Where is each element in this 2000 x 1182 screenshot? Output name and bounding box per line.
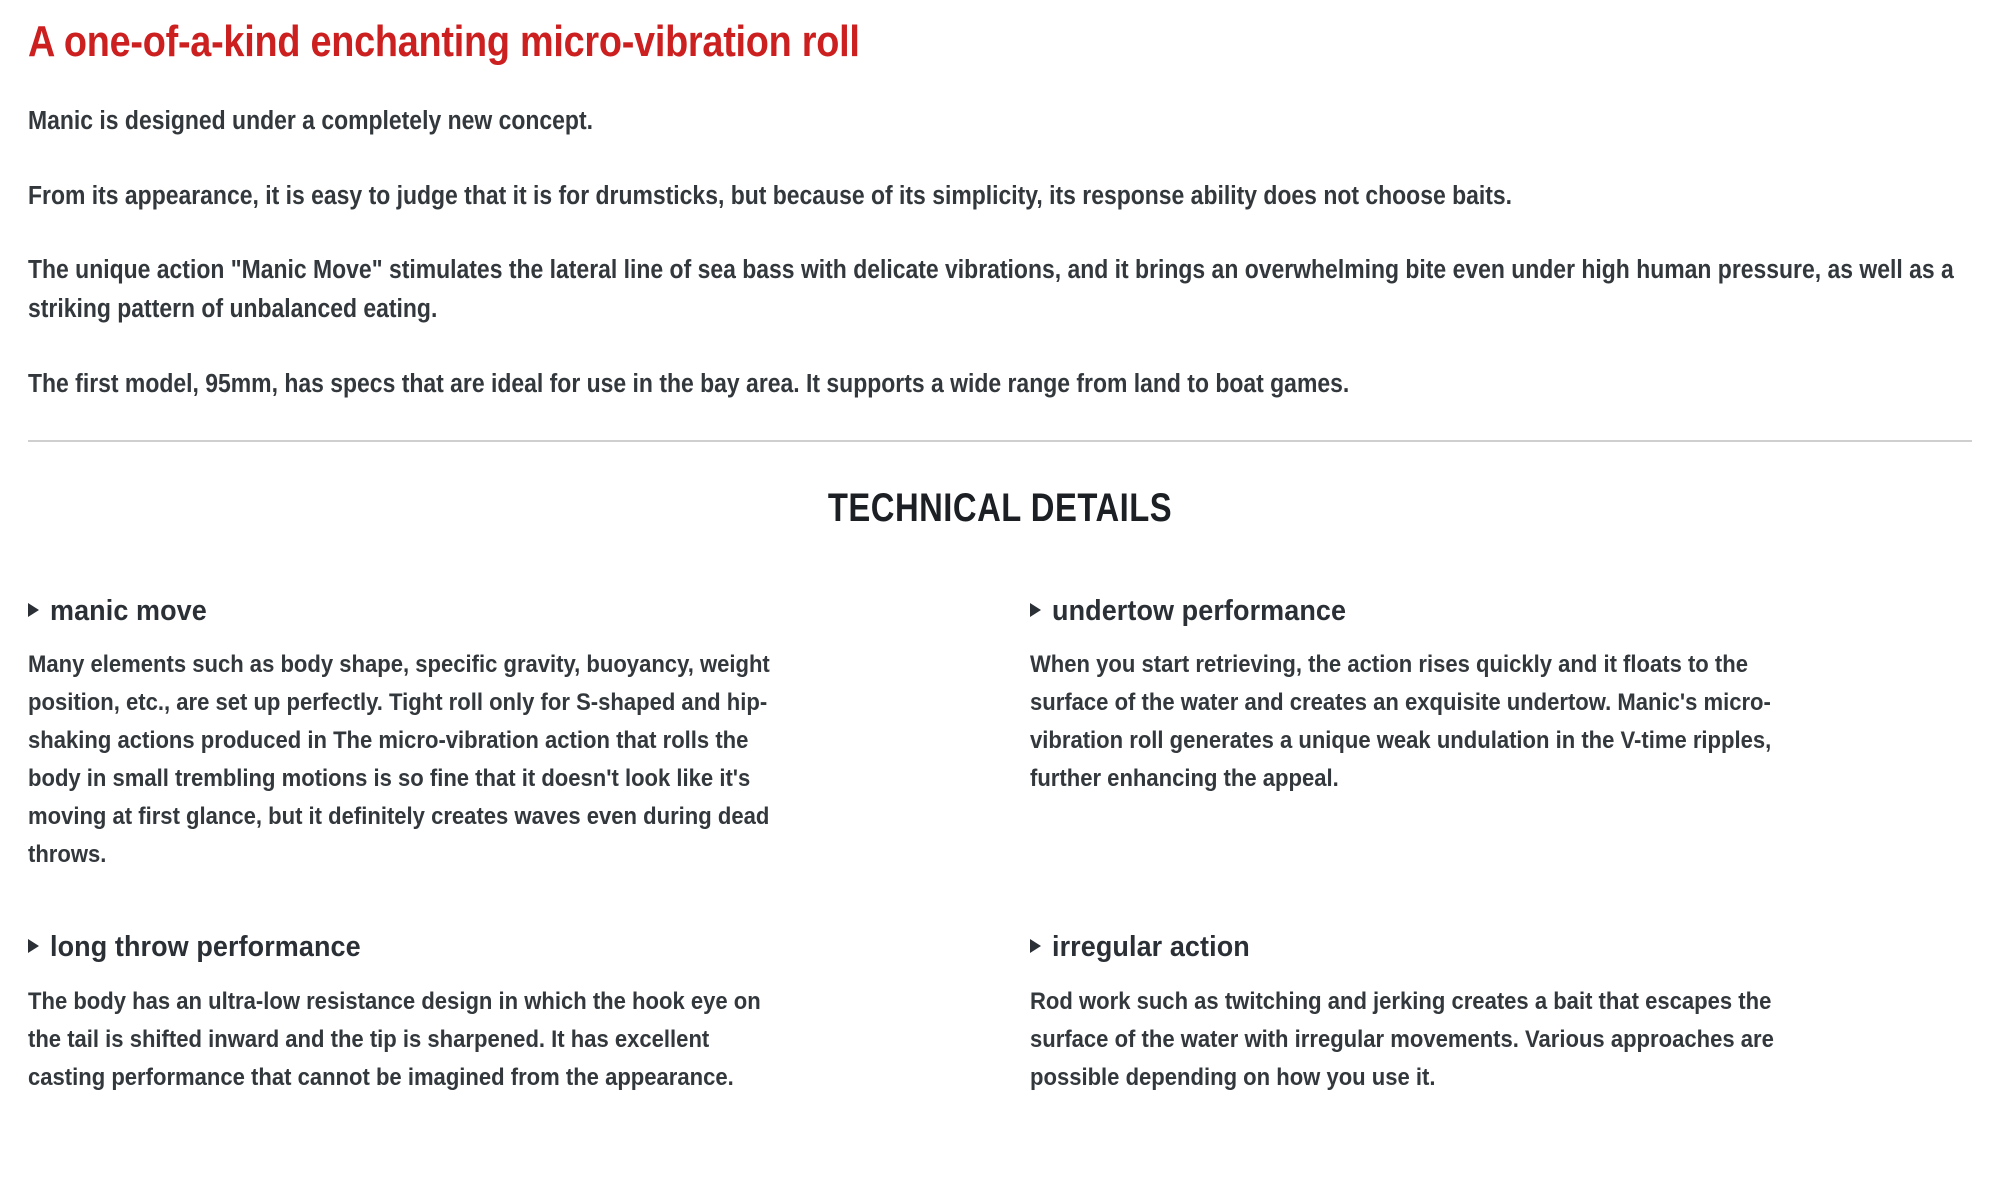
feature-title: long throw performance [50, 930, 361, 965]
feature-header: long throw performance [28, 930, 970, 965]
feature-title: undertow performance [1052, 594, 1346, 629]
feature-body: Rod work such as twitching and jerking c… [1030, 983, 1777, 1097]
feature-title: manic move [50, 594, 207, 629]
feature-header: manic move [28, 594, 970, 629]
feature-manic-move: manic move Many elements such as body sh… [28, 594, 970, 875]
intro-paragraph: From its appearance, it is easy to judge… [28, 177, 1970, 216]
feature-long-throw-performance: long throw performance The body has an u… [28, 930, 970, 1097]
intro-paragraph: The first model, 95mm, has specs that ar… [28, 365, 1970, 404]
triangle-right-icon [28, 603, 39, 617]
triangle-right-icon [28, 939, 39, 953]
intro-paragraph: The unique action "Manic Move" stimulate… [28, 251, 1970, 329]
feature-header: undertow performance [1030, 594, 1972, 629]
feature-body: When you start retrieving, the action ri… [1030, 646, 1777, 798]
feature-title: irregular action [1052, 930, 1250, 965]
feature-body: The body has an ultra-low resistance des… [28, 983, 775, 1097]
technical-details-heading: TECHNICAL DETAILS [203, 442, 1797, 532]
feature-undertow-performance: undertow performance When you start retr… [1030, 594, 1972, 875]
technical-details-grid: manic move Many elements such as body sh… [28, 594, 1972, 1097]
feature-header: irregular action [1030, 930, 1972, 965]
intro-section: Manic is designed under a completely new… [28, 102, 1972, 404]
page-title: A one-of-a-kind enchanting micro-vibrati… [28, 0, 1700, 68]
triangle-right-icon [1030, 603, 1041, 617]
feature-irregular-action: irregular action Rod work such as twitch… [1030, 930, 1972, 1097]
product-description-page: A one-of-a-kind enchanting micro-vibrati… [0, 0, 2000, 1097]
feature-body: Many elements such as body shape, specif… [28, 646, 775, 874]
triangle-right-icon [1030, 939, 1041, 953]
intro-paragraph: Manic is designed under a completely new… [28, 102, 1970, 141]
